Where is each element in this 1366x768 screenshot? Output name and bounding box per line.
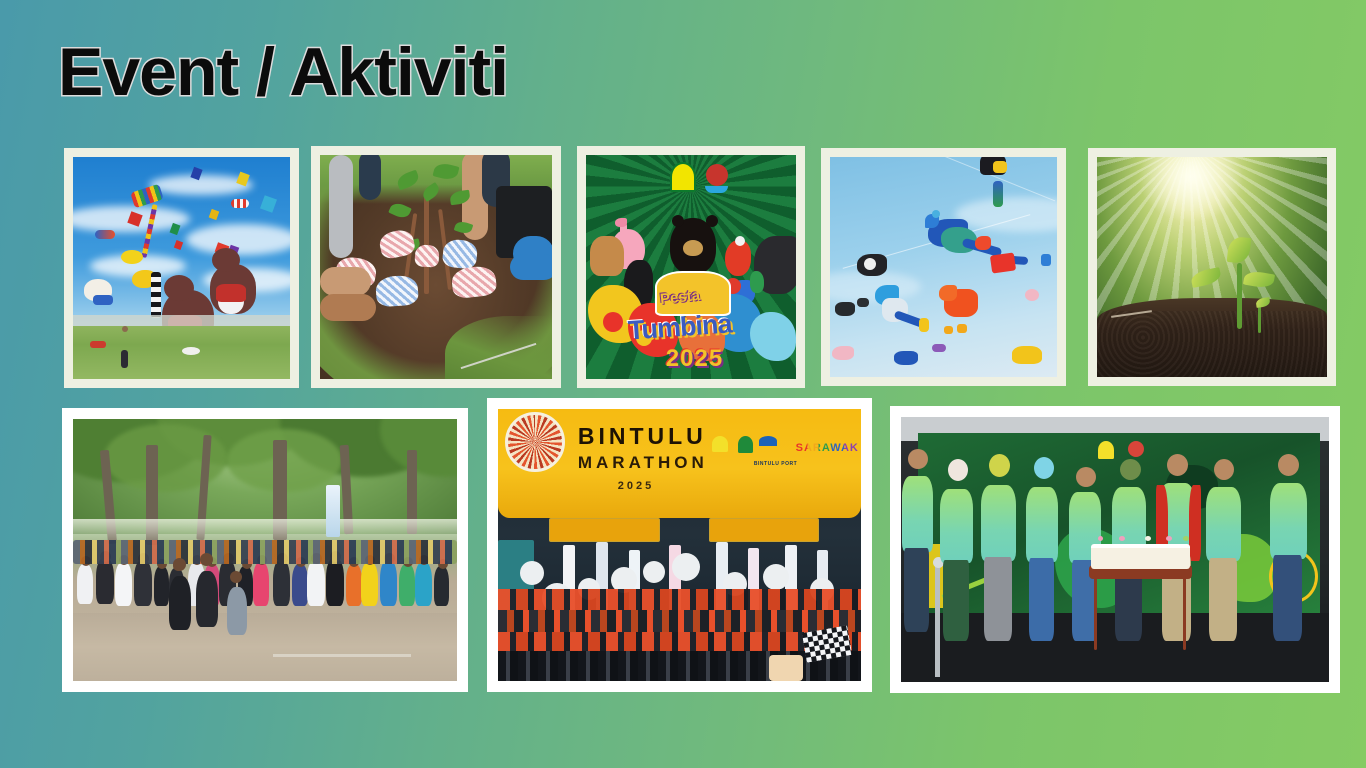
photo-animal-kites-sky [830, 157, 1057, 377]
photo-park-group-run [73, 419, 457, 681]
sponsor-logo-bda [738, 436, 753, 453]
sponsor-logo-emblem [712, 436, 728, 452]
photo-kite-festival-field [73, 157, 290, 379]
sponsor-logo-bintulu-port-mark [759, 436, 777, 446]
gallery-tile-bintulu-marathon-start[interactable]: BINTULU MARATHON 2025 BINTULU PORT SARAW… [487, 398, 872, 692]
page-title: Event / Aktiviti [58, 38, 508, 106]
marathon-title-line1: BINTULU [578, 423, 707, 450]
ceremony-cake [1091, 544, 1189, 569]
marathon-title-line2: MARATHON [578, 453, 708, 473]
poster-logo-secondary [706, 164, 728, 186]
marathon-sunburst-logo [505, 412, 565, 472]
backdrop-logo-2 [1128, 441, 1144, 457]
gallery-tile-animal-kites-sky[interactable] [821, 148, 1066, 386]
marathon-title-line3: 2025 [618, 480, 654, 492]
photo-pesta-tumbina-poster: Pesta Tumbina 2025 [586, 155, 796, 379]
sponsor-label-sarawak: SARAWAK [796, 442, 859, 454]
gallery-tile-pesta-tumbina-poster[interactable]: Pesta Tumbina 2025 [577, 146, 805, 388]
photo-cake-cutting-ceremony [901, 417, 1329, 682]
poster-title-line3: 2025 [666, 345, 723, 373]
backdrop-logo-1 [1098, 441, 1114, 459]
photo-seedling-sunlight [1097, 157, 1327, 377]
gallery-tile-cake-cutting-ceremony[interactable] [890, 406, 1340, 693]
sponsor-label-bintulu-port: BINTULU PORT [754, 461, 797, 467]
poster-logo-bintulu [670, 162, 696, 192]
gallery-tile-seedling-sunlight[interactable] [1088, 148, 1336, 386]
gallery-tile-park-group-run[interactable] [62, 408, 468, 692]
slide-canvas: Event / Aktiviti [0, 0, 1366, 768]
photo-bintulu-marathon-start: BINTULU MARATHON 2025 BINTULU PORT SARAW… [498, 409, 861, 681]
gallery-tile-kite-festival-field[interactable] [64, 148, 299, 388]
photo-tree-planting-hands [320, 155, 552, 379]
gallery-tile-tree-planting-hands[interactable] [311, 146, 561, 388]
